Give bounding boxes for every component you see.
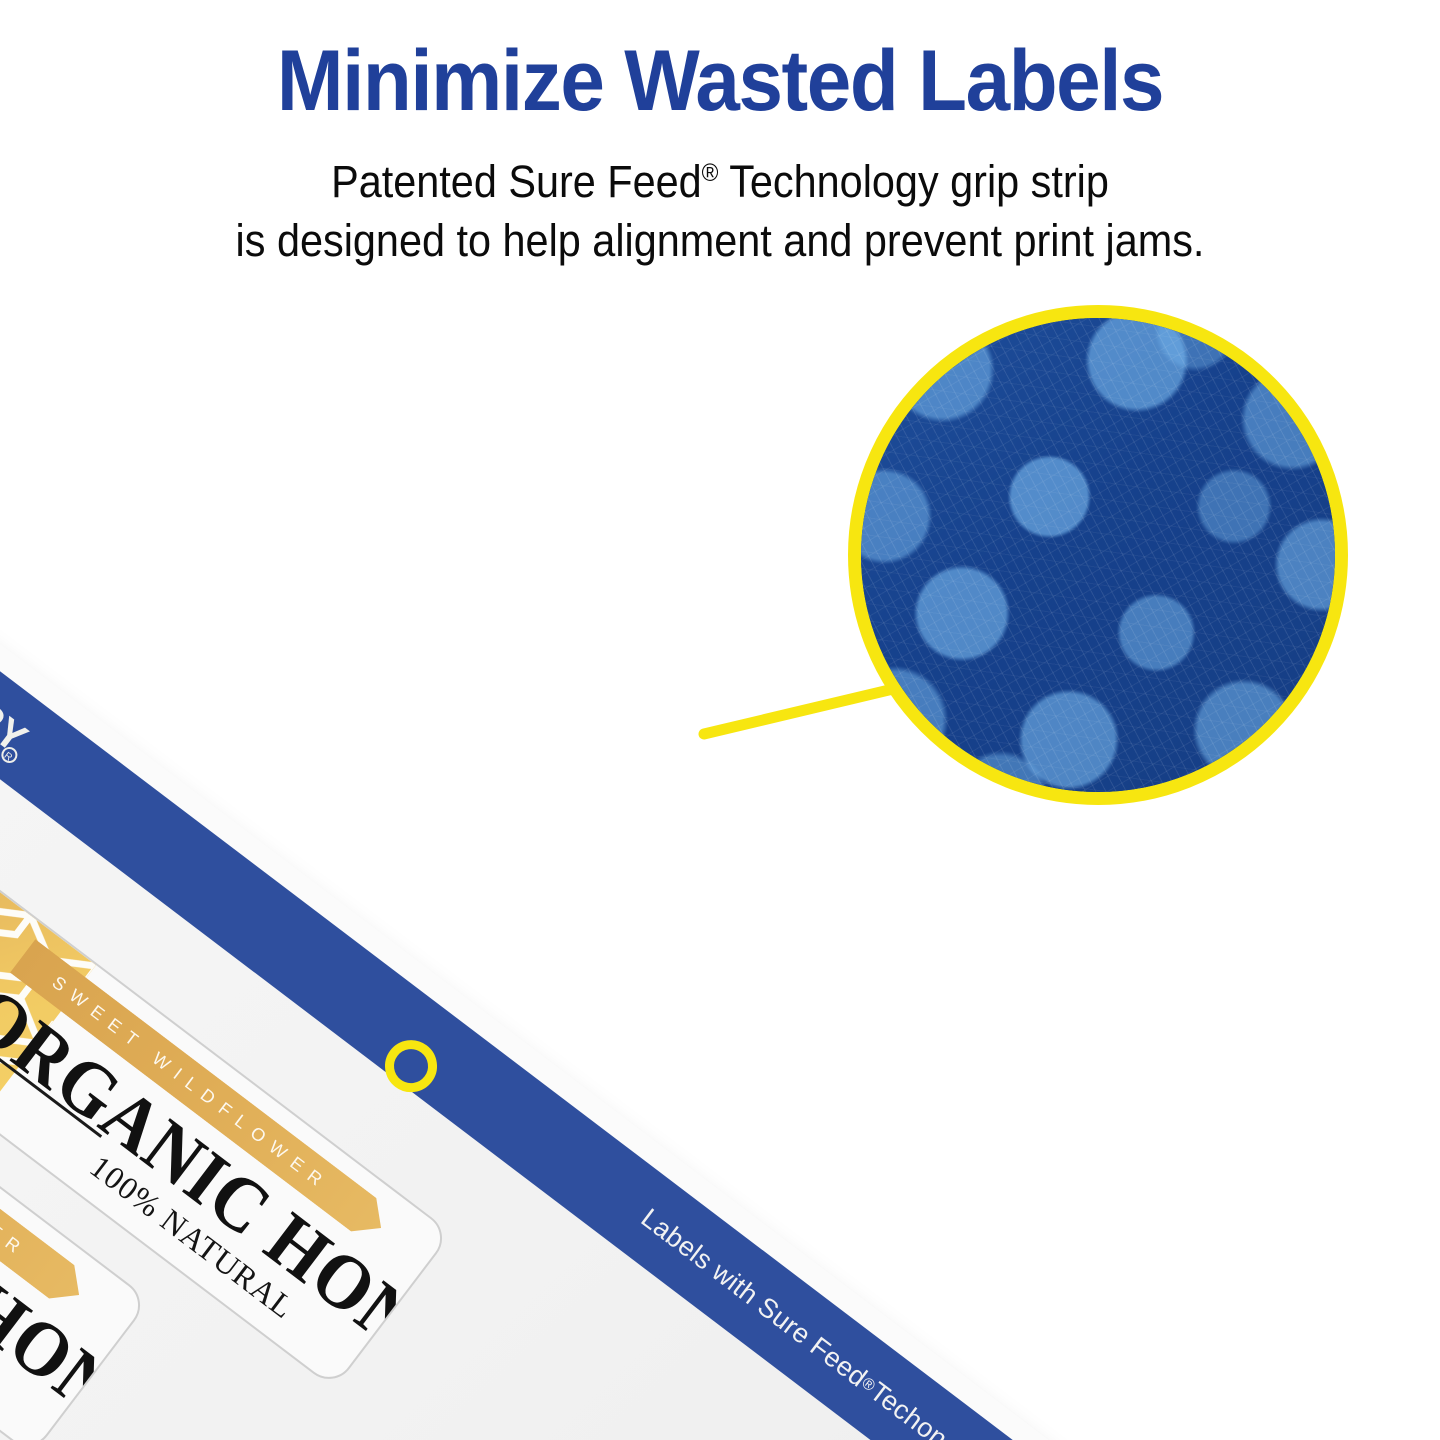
subheadline-line-1-pre: Patented Sure Feed — [331, 156, 702, 207]
grip-strip-fibers — [861, 318, 1335, 792]
product-marketing-image: Minimize Wasted Labels Patented Sure Fee… — [0, 0, 1440, 1440]
subheadline-line-2: is designed to help alignment and preven… — [58, 211, 1383, 270]
subheadline-line-1-post: Technology grip strip — [718, 156, 1108, 207]
page-subheadline: Patented Sure Feed® Technology grip stri… — [58, 152, 1383, 271]
registered-mark-icon: ® — [702, 160, 719, 187]
subheadline-line-1: Patented Sure Feed® Technology grip stri… — [58, 152, 1383, 211]
page-headline: Minimize Wasted Labels — [50, 38, 1389, 126]
magnifier-circle — [848, 305, 1348, 805]
